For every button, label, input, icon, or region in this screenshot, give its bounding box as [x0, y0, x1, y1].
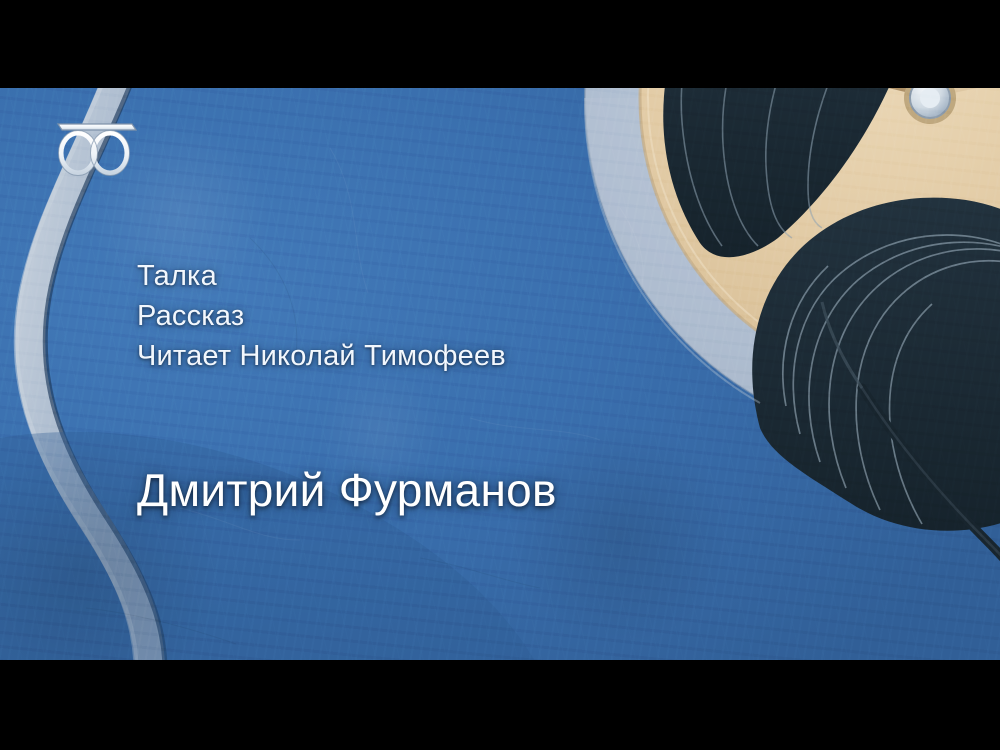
subtitle-line-2: Рассказ [137, 296, 506, 336]
letterbox-bar-top [0, 0, 1000, 88]
letterbox-bar-bottom [0, 660, 1000, 750]
subtitle-line-3: Читает Николай Тимофеев [137, 336, 506, 376]
gosteleradiofond-logo[interactable] [48, 108, 142, 186]
subtitle-block: Талка Рассказ Читает Николай Тимофеев [137, 256, 506, 376]
page-title: Дмитрий Фурманов [137, 463, 557, 517]
video-frame: Талка Рассказ Читает Николай Тимофеев Дм… [0, 0, 1000, 750]
tf-monogram-icon [48, 108, 142, 186]
subtitle-line-1: Талка [137, 256, 506, 296]
artwork-stage: Талка Рассказ Читает Николай Тимофеев Дм… [0, 88, 1000, 660]
